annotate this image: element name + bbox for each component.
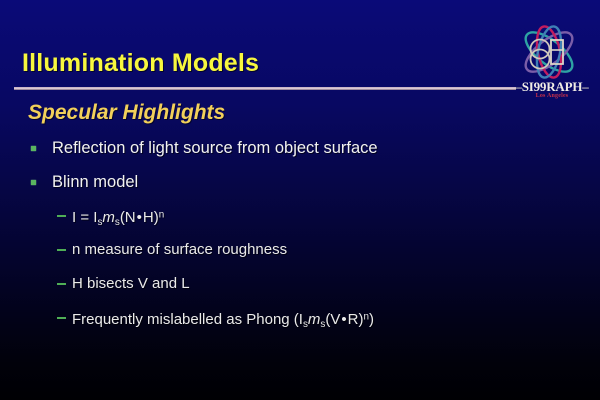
phong-formula-row: Frequently mislabelled as Phong (Isms(V•…	[0, 308, 600, 342]
formula-body-2: R)	[348, 311, 364, 328]
list-item: n measure of surface roughness	[0, 240, 600, 274]
title-divider	[14, 87, 516, 90]
list-item: H bisects V and L	[0, 274, 600, 308]
bullet-text: Blinn model	[52, 173, 138, 191]
dash-bullet-icon	[57, 215, 66, 217]
wordmark-dash-right: –	[582, 79, 588, 94]
blinn-formula: I = Isms(N•H)n	[72, 209, 164, 226]
subbullet-text: H bisects V and L	[72, 275, 190, 292]
formula-mid: m	[308, 311, 321, 328]
phong-formula: Frequently mislabelled as Phong (Isms(V•…	[72, 311, 374, 328]
dot-operator-icon: •	[340, 311, 347, 328]
bullet-text: Reflection of light source from object s…	[52, 139, 378, 157]
formula-lead: Frequently mislabelled as Phong (I	[72, 311, 303, 328]
formula-body: (V	[325, 311, 340, 328]
dash-bullet-icon	[57, 317, 66, 319]
formula-sup: n	[159, 210, 165, 221]
square-bullet-icon	[31, 180, 36, 185]
slide-canvas: Illumination Models Specular Highlights …	[0, 0, 600, 400]
siggraph-city-label: Los Angeles	[505, 93, 599, 99]
slide-body: Reflection of light source from object s…	[0, 138, 600, 342]
page-title: Illumination Models	[22, 49, 259, 78]
dash-bullet-icon	[57, 283, 66, 285]
dash-bullet-icon	[57, 249, 66, 251]
square-bullet-icon	[31, 146, 36, 151]
formula-mid: m	[102, 209, 115, 226]
slide-subtitle: Specular Highlights	[28, 101, 225, 125]
blinn-formula-row: I = Isms(N•H)n	[0, 206, 600, 240]
formula-body: (N	[120, 209, 136, 226]
list-item: Reflection of light source from object s…	[0, 138, 600, 172]
dot-operator-icon: •	[136, 209, 143, 226]
formula-lead: I = I	[72, 209, 97, 226]
subbullet-text: n measure of surface roughness	[72, 241, 287, 258]
wordmark-text: SI99RAPH	[522, 79, 583, 94]
formula-tail: )	[369, 311, 374, 328]
formula-body-2: H)	[143, 209, 159, 226]
list-item: Blinn model	[0, 172, 600, 206]
